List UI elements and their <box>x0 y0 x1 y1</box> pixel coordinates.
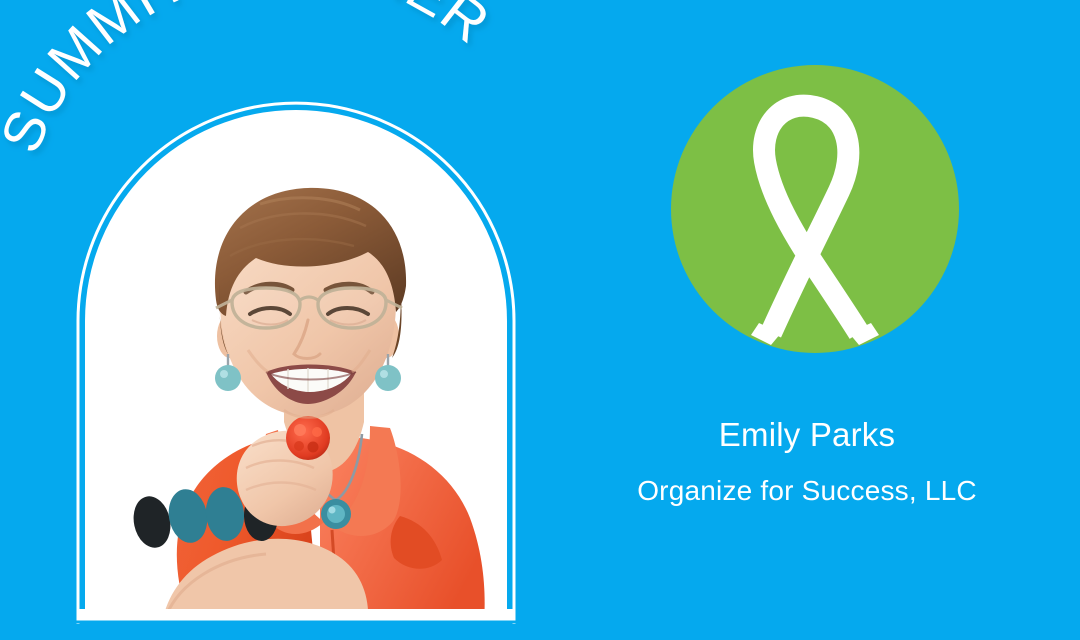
speaker-organization: Organize for Success, LLC <box>557 474 1057 508</box>
flower-ring <box>286 416 330 460</box>
awareness-ribbon-icon <box>671 65 959 353</box>
speaker-info: Emily Parks Organize for Success, LLC <box>557 415 1057 507</box>
speaker-name: Emily Parks <box>557 415 1057 455</box>
portrait-arch-frame <box>70 86 522 624</box>
portrait-photo <box>70 86 522 624</box>
speaker-card: SUMMIT SPEAKER <box>0 0 1080 640</box>
